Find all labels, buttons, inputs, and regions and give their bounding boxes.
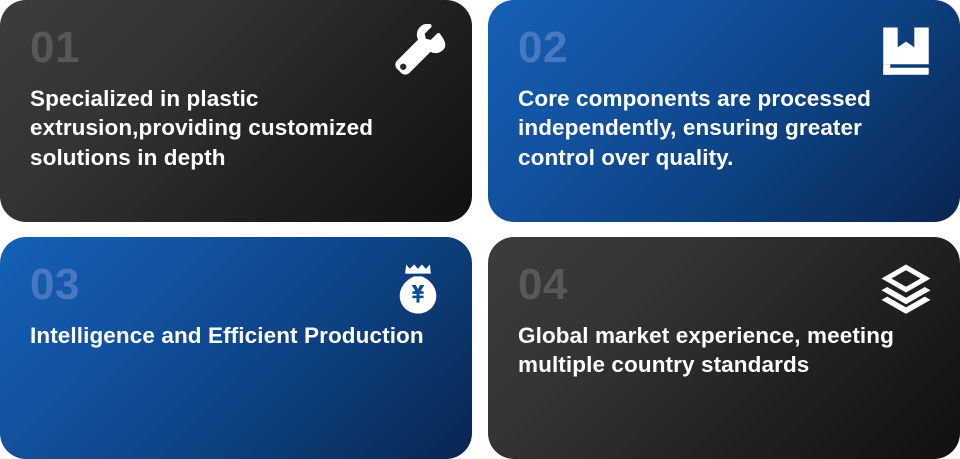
feature-card-04[interactable]: 04 Global market experience, meeting mul… <box>488 237 960 459</box>
feature-cards-grid: 01 Specialized in plastic extrusion,prov… <box>0 0 960 459</box>
card-description: Specialized in plastic extrusion,providi… <box>30 84 442 172</box>
feature-card-02[interactable]: 02 Core components are processed indepen… <box>488 0 960 222</box>
card-description: Core components are processed independen… <box>518 84 930 172</box>
feature-card-01[interactable]: 01 Specialized in plastic extrusion,prov… <box>0 0 472 222</box>
feature-card-03[interactable]: 03 Intelligence and Efficient Production <box>0 237 472 459</box>
card-number: 02 <box>518 26 930 70</box>
card-description: Global market experience, meeting multip… <box>518 321 930 380</box>
card-number: 04 <box>518 263 930 307</box>
card-description: Intelligence and Efficient Production <box>30 321 442 350</box>
card-number: 01 <box>30 26 442 70</box>
card-number: 03 <box>30 263 442 307</box>
